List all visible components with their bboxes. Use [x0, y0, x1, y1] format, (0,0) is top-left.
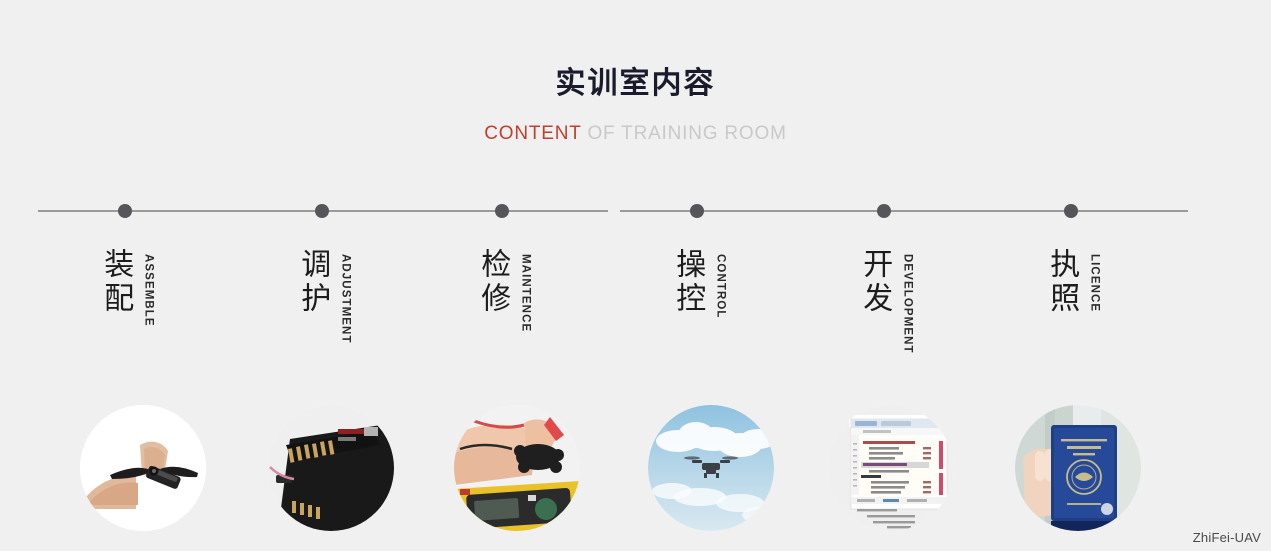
thumb-control[interactable] — [648, 405, 774, 531]
timeline-dot-2[interactable] — [315, 204, 329, 218]
step-label-adjustment[interactable]: 调护ADJUSTMENT — [293, 248, 352, 344]
timeline-segment — [620, 210, 1188, 212]
circuit-board-photo — [268, 405, 394, 531]
timeline-dot-6[interactable] — [1064, 204, 1078, 218]
step-label-development[interactable]: 开发DEVELOPMENT — [855, 248, 914, 354]
step-label-cn: 操控 — [668, 248, 708, 316]
step-thumbnails-row — [0, 405, 1271, 537]
step-label-cn: 装配 — [96, 248, 136, 316]
page-title: 实训室内容 — [0, 66, 1271, 102]
subtitle-muted: OF TRAINING ROOM — [581, 123, 786, 144]
step-label-en: ASSEMBLE — [142, 254, 154, 327]
timeline-dot-1[interactable] — [118, 204, 132, 218]
multimeter-testing-photo — [454, 405, 580, 531]
drone-in-sky-photo — [648, 405, 774, 531]
page-subtitle: CONTENT OF TRAINING ROOM — [0, 123, 1271, 145]
page-header: 实训室内容 CONTENT OF TRAINING ROOM — [0, 0, 1271, 145]
timeline-dot-4[interactable] — [690, 204, 704, 218]
step-label-maintence[interactable]: 检修MAINTENCE — [473, 248, 532, 332]
step-label-en: ADJUSTMENT — [339, 254, 351, 344]
thumb-assemble[interactable] — [80, 405, 206, 531]
timeline — [0, 196, 1271, 228]
timeline-dot-5[interactable] — [877, 204, 891, 218]
step-label-cn: 执照 — [1042, 248, 1082, 316]
timeline-dot-3[interactable] — [495, 204, 509, 218]
thumb-maintence[interactable] — [454, 405, 580, 531]
step-label-en: LICENCE — [1088, 254, 1100, 312]
step-labels-row: 装配ASSEMBLE调护ADJUSTMENT检修MAINTENCE操控CONTR… — [0, 248, 1271, 368]
thumb-development[interactable] — [827, 405, 953, 531]
step-label-cn: 检修 — [473, 248, 513, 316]
step-label-en: MAINTENCE — [519, 254, 531, 332]
thumb-adjustment[interactable] — [268, 405, 394, 531]
subtitle-accent: CONTENT — [484, 123, 581, 144]
step-label-cn: 调护 — [293, 248, 333, 316]
watermark: ZhiFei-UAV — [1193, 530, 1261, 545]
step-label-en: CONTROL — [714, 254, 726, 319]
code-editor-screenshot — [827, 405, 953, 531]
step-label-licence[interactable]: 执照LICENCE — [1042, 248, 1101, 316]
step-label-assemble[interactable]: 装配ASSEMBLE — [96, 248, 155, 327]
step-label-en: DEVELOPMENT — [901, 254, 913, 354]
drone-propeller-assembly-photo — [80, 405, 206, 531]
step-label-cn: 开发 — [855, 248, 895, 316]
thumb-licence[interactable] — [1015, 405, 1141, 531]
step-label-control[interactable]: 操控CONTROL — [668, 248, 727, 319]
licence-booklet-photo — [1015, 405, 1141, 531]
